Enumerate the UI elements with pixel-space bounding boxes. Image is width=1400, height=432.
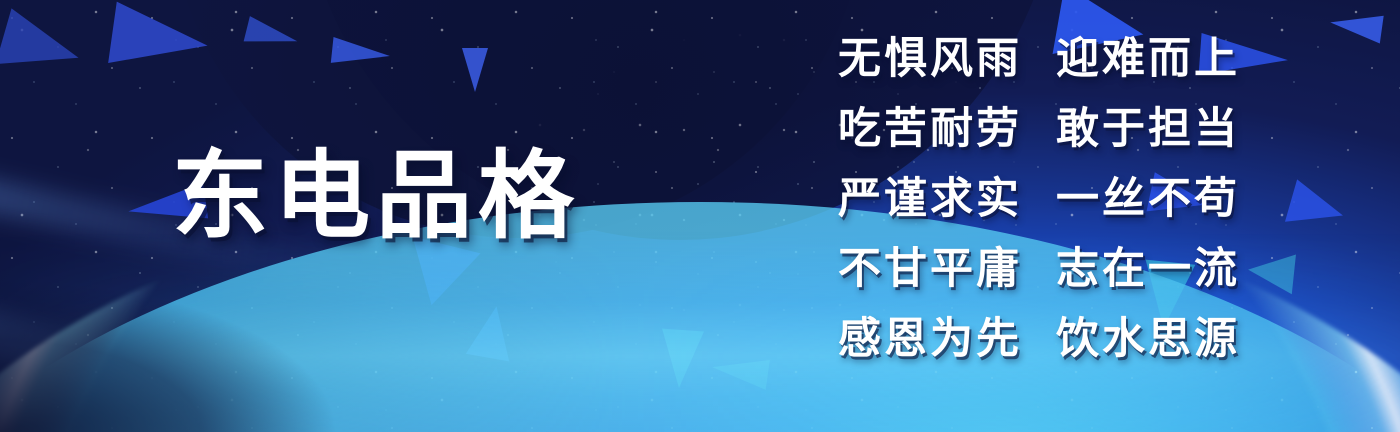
slogan-line: 严谨求实一丝不苟 xyxy=(838,164,1240,234)
slogan-phrase-right: 一丝不苟 xyxy=(1056,164,1240,234)
slogan-line: 感恩为先饮水思源 xyxy=(838,304,1240,374)
slogan-line: 不甘平庸志在一流 xyxy=(838,234,1240,304)
slogan-line: 无惧风雨迎难而上 xyxy=(838,24,1240,94)
slogan-phrase-right: 敢于担当 xyxy=(1056,94,1240,164)
bottom-left-vignette xyxy=(0,242,560,432)
slogan-phrase-left: 不甘平庸 xyxy=(838,234,1022,304)
slogan-phrase-right: 迎难而上 xyxy=(1056,24,1240,94)
slogan-line: 吃苦耐劳敢于担当 xyxy=(838,94,1240,164)
title-block: 东电品格 xyxy=(172,148,580,246)
slogan-list: 无惧风雨迎难而上吃苦耐劳敢于担当严谨求实一丝不苟不甘平庸志在一流感恩为先饮水思源 xyxy=(838,24,1240,374)
slogan-phrase-left: 严谨求实 xyxy=(838,164,1022,234)
slogan-phrase-left: 感恩为先 xyxy=(838,304,1022,374)
slogan-phrase-left: 无惧风雨 xyxy=(838,24,1022,94)
slogan-phrase-right: 志在一流 xyxy=(1056,234,1240,304)
page-title: 东电品格 xyxy=(172,148,580,246)
company-culture-banner: 东电品格 无惧风雨迎难而上吃苦耐劳敢于担当严谨求实一丝不苟不甘平庸志在一流感恩为… xyxy=(0,0,1400,432)
slogan-phrase-right: 饮水思源 xyxy=(1056,304,1240,374)
slogan-phrase-left: 吃苦耐劳 xyxy=(838,94,1022,164)
